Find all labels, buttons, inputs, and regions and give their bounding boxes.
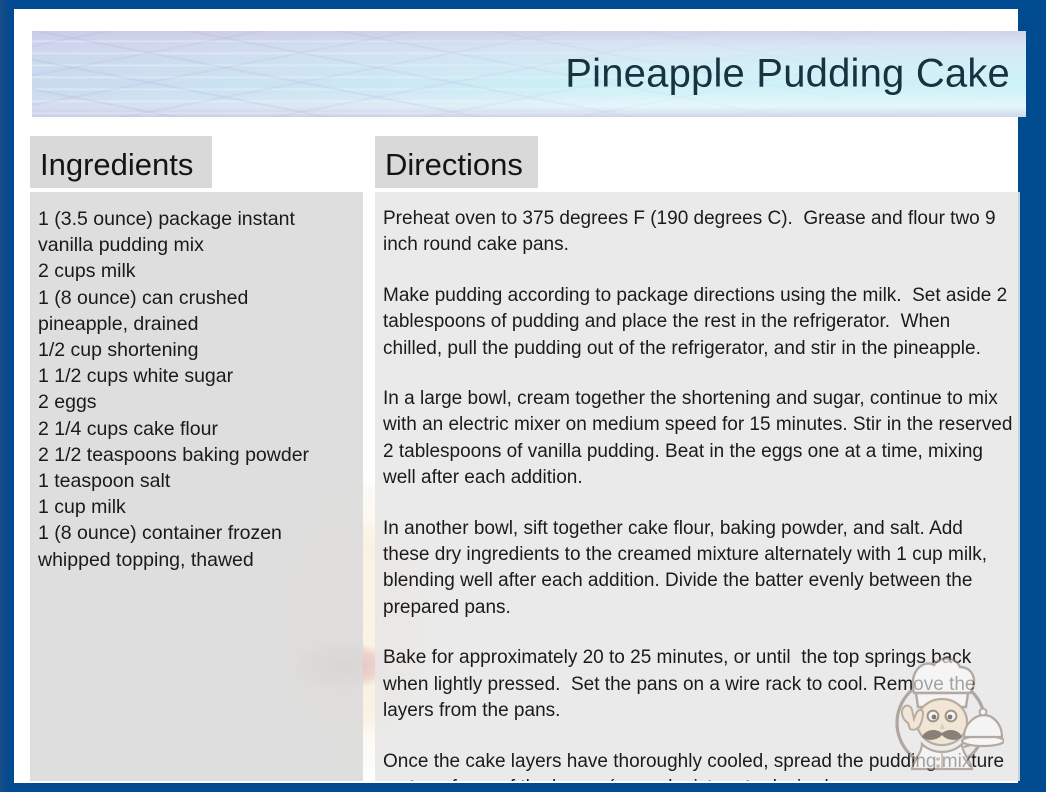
direction-step: In another bowl, sift together cake flou…: [383, 516, 1014, 622]
direction-step: Once the cake layers have thoroughly coo…: [383, 749, 1014, 782]
directions-panel: Preheat oven to 375 degrees F (190 degre…: [375, 192, 1020, 781]
ingredient-line: 1 (3.5 ounce) package instant: [38, 206, 355, 232]
recipe-page-sheet: Pineapple Pudding Cake Ingredients 1 (3.…: [14, 9, 1018, 783]
ingredients-panel: 1 (3.5 ounce) package instantvanilla pud…: [30, 192, 363, 781]
ingredient-line: 1/2 cup shortening: [38, 337, 355, 363]
title-banner: Pineapple Pudding Cake: [32, 31, 1026, 117]
ingredients-heading: Ingredients: [30, 136, 212, 188]
ingredient-line: 2 cups milk: [38, 258, 355, 284]
ingredient-line: 1 (8 ounce) container frozen: [38, 520, 355, 546]
ingredient-line: 1 teaspoon salt: [38, 468, 355, 494]
ingredient-line: 1 1/2 cups white sugar: [38, 363, 355, 389]
direction-step: Preheat oven to 375 degrees F (190 degre…: [383, 206, 1014, 259]
direction-step: In a large bowl, cream together the shor…: [383, 386, 1014, 492]
ingredient-line: 1 (8 ounce) can crushed: [38, 285, 355, 311]
ingredient-line: pineapple, drained: [38, 311, 355, 337]
directions-steps-list: Preheat oven to 375 degrees F (190 degre…: [383, 206, 1014, 781]
ingredient-line: vanilla pudding mix: [38, 232, 355, 258]
ingredient-line: 2 1/4 cups cake flour: [38, 416, 355, 442]
recipe-card: Pineapple Pudding Cake Ingredients 1 (3.…: [0, 0, 1046, 792]
ingredient-line: 2 eggs: [38, 389, 355, 415]
recipe-title: Pineapple Pudding Cake: [565, 52, 1010, 97]
direction-step: Make pudding according to package direct…: [383, 283, 1014, 362]
ingredient-line: 2 1/2 teaspoons baking powder: [38, 442, 355, 468]
directions-heading: Directions: [375, 136, 538, 188]
direction-step: Bake for approximately 20 to 25 minutes,…: [383, 645, 1014, 724]
ingredient-line: whipped topping, thawed: [38, 547, 355, 573]
ingredients-list: 1 (3.5 ounce) package instantvanilla pud…: [38, 206, 355, 573]
ingredient-line: 1 cup milk: [38, 494, 355, 520]
